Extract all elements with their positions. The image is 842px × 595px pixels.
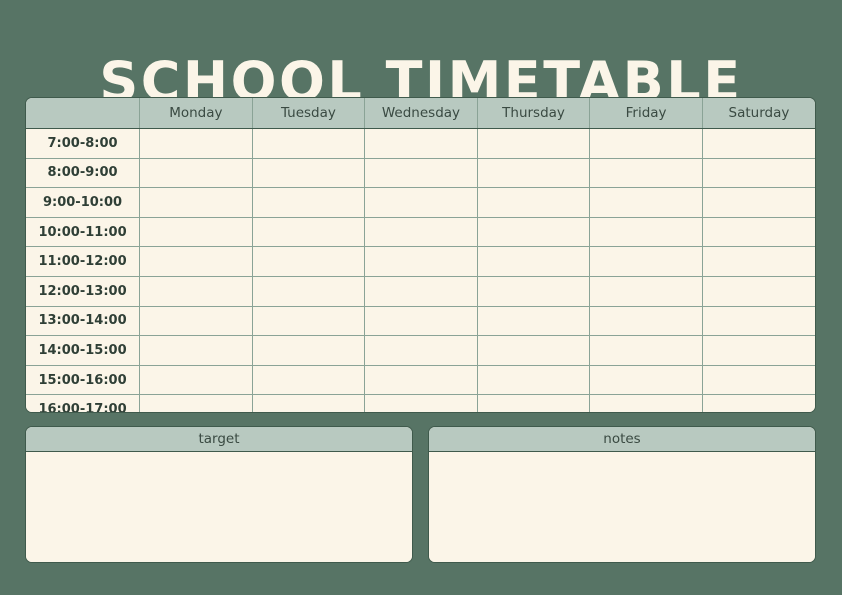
slot-cell[interactable] (140, 306, 253, 336)
slot-cell[interactable] (702, 158, 815, 188)
slot-cell[interactable] (590, 217, 703, 247)
table-row: 8:00-9:00 (26, 158, 815, 188)
time-label: 13:00-14:00 (26, 306, 140, 336)
slot-cell[interactable] (140, 365, 253, 395)
slot-cell[interactable] (365, 188, 478, 218)
slot-cell[interactable] (702, 217, 815, 247)
time-label: 7:00-8:00 (26, 129, 140, 159)
timetable-body: 7:00-8:00 8:00-9:00 9:00-10:00 (26, 129, 815, 414)
slot-cell[interactable] (702, 365, 815, 395)
slot-cell[interactable] (702, 247, 815, 277)
target-panel-title: target (26, 427, 412, 452)
slot-cell[interactable] (365, 276, 478, 306)
column-header-saturday: Saturday (702, 98, 815, 129)
table-row: 12:00-13:00 (26, 276, 815, 306)
slot-cell[interactable] (477, 276, 590, 306)
time-label: 9:00-10:00 (26, 188, 140, 218)
column-header-wednesday: Wednesday (365, 98, 478, 129)
slot-cell[interactable] (252, 188, 365, 218)
slot-cell[interactable] (252, 276, 365, 306)
slot-cell[interactable] (477, 188, 590, 218)
table-row: 16:00-17:00 (26, 395, 815, 413)
table-row: 11:00-12:00 (26, 247, 815, 277)
table-row: 10:00-11:00 (26, 217, 815, 247)
time-label: 12:00-13:00 (26, 276, 140, 306)
slot-cell[interactable] (365, 395, 478, 413)
table-row: 14:00-15:00 (26, 336, 815, 366)
time-label: 8:00-9:00 (26, 158, 140, 188)
slot-cell[interactable] (590, 395, 703, 413)
slot-cell[interactable] (365, 217, 478, 247)
slot-cell[interactable] (252, 336, 365, 366)
slot-cell[interactable] (702, 336, 815, 366)
column-header-monday: Monday (140, 98, 253, 129)
column-header-thursday: Thursday (477, 98, 590, 129)
slot-cell[interactable] (702, 276, 815, 306)
slot-cell[interactable] (702, 129, 815, 159)
column-header-tuesday: Tuesday (252, 98, 365, 129)
slot-cell[interactable] (140, 188, 253, 218)
slot-cell[interactable] (702, 395, 815, 413)
slot-cell[interactable] (477, 158, 590, 188)
slot-cell[interactable] (140, 276, 253, 306)
slot-cell[interactable] (252, 158, 365, 188)
slot-cell[interactable] (590, 158, 703, 188)
timetable-corner-cell (26, 98, 140, 129)
timetable-grid: Monday Tuesday Wednesday Thursday Friday… (26, 98, 815, 413)
slot-cell[interactable] (365, 158, 478, 188)
notes-panel-body[interactable] (429, 452, 815, 562)
table-row: 13:00-14:00 (26, 306, 815, 336)
column-header-friday: Friday (590, 98, 703, 129)
slot-cell[interactable] (590, 188, 703, 218)
slot-cell[interactable] (477, 336, 590, 366)
slot-cell[interactable] (140, 158, 253, 188)
timetable-head: Monday Tuesday Wednesday Thursday Friday… (26, 98, 815, 129)
slot-cell[interactable] (140, 217, 253, 247)
slot-cell[interactable] (252, 395, 365, 413)
slot-cell[interactable] (365, 365, 478, 395)
time-label: 11:00-12:00 (26, 247, 140, 277)
table-row: 7:00-8:00 (26, 129, 815, 159)
time-label: 14:00-15:00 (26, 336, 140, 366)
slot-cell[interactable] (140, 336, 253, 366)
slot-cell[interactable] (365, 129, 478, 159)
slot-cell[interactable] (590, 365, 703, 395)
table-row: 15:00-16:00 (26, 365, 815, 395)
slot-cell[interactable] (590, 276, 703, 306)
slot-cell[interactable] (252, 217, 365, 247)
slot-cell[interactable] (252, 306, 365, 336)
slot-cell[interactable] (477, 247, 590, 277)
timetable-header-row: Monday Tuesday Wednesday Thursday Friday… (26, 98, 815, 129)
slot-cell[interactable] (252, 365, 365, 395)
slot-cell[interactable] (365, 336, 478, 366)
slot-cell[interactable] (590, 336, 703, 366)
slot-cell[interactable] (140, 395, 253, 413)
slot-cell[interactable] (477, 129, 590, 159)
timetable: Monday Tuesday Wednesday Thursday Friday… (25, 97, 816, 413)
target-panel: target (25, 426, 413, 563)
slot-cell[interactable] (477, 217, 590, 247)
bottom-panels: target notes (25, 426, 816, 563)
notes-panel: notes (428, 426, 816, 563)
slot-cell[interactable] (252, 129, 365, 159)
time-label: 10:00-11:00 (26, 217, 140, 247)
slot-cell[interactable] (477, 395, 590, 413)
slot-cell[interactable] (140, 247, 253, 277)
slot-cell[interactable] (702, 188, 815, 218)
slot-cell[interactable] (477, 306, 590, 336)
slot-cell[interactable] (702, 306, 815, 336)
time-label: 15:00-16:00 (26, 365, 140, 395)
slot-cell[interactable] (365, 306, 478, 336)
time-label: 16:00-17:00 (26, 395, 140, 413)
slot-cell[interactable] (590, 247, 703, 277)
slot-cell[interactable] (477, 365, 590, 395)
slot-cell[interactable] (590, 306, 703, 336)
target-panel-body[interactable] (26, 452, 412, 562)
table-row: 9:00-10:00 (26, 188, 815, 218)
slot-cell[interactable] (252, 247, 365, 277)
slot-cell[interactable] (590, 129, 703, 159)
notes-panel-title: notes (429, 427, 815, 452)
slot-cell[interactable] (140, 129, 253, 159)
slot-cell[interactable] (365, 247, 478, 277)
